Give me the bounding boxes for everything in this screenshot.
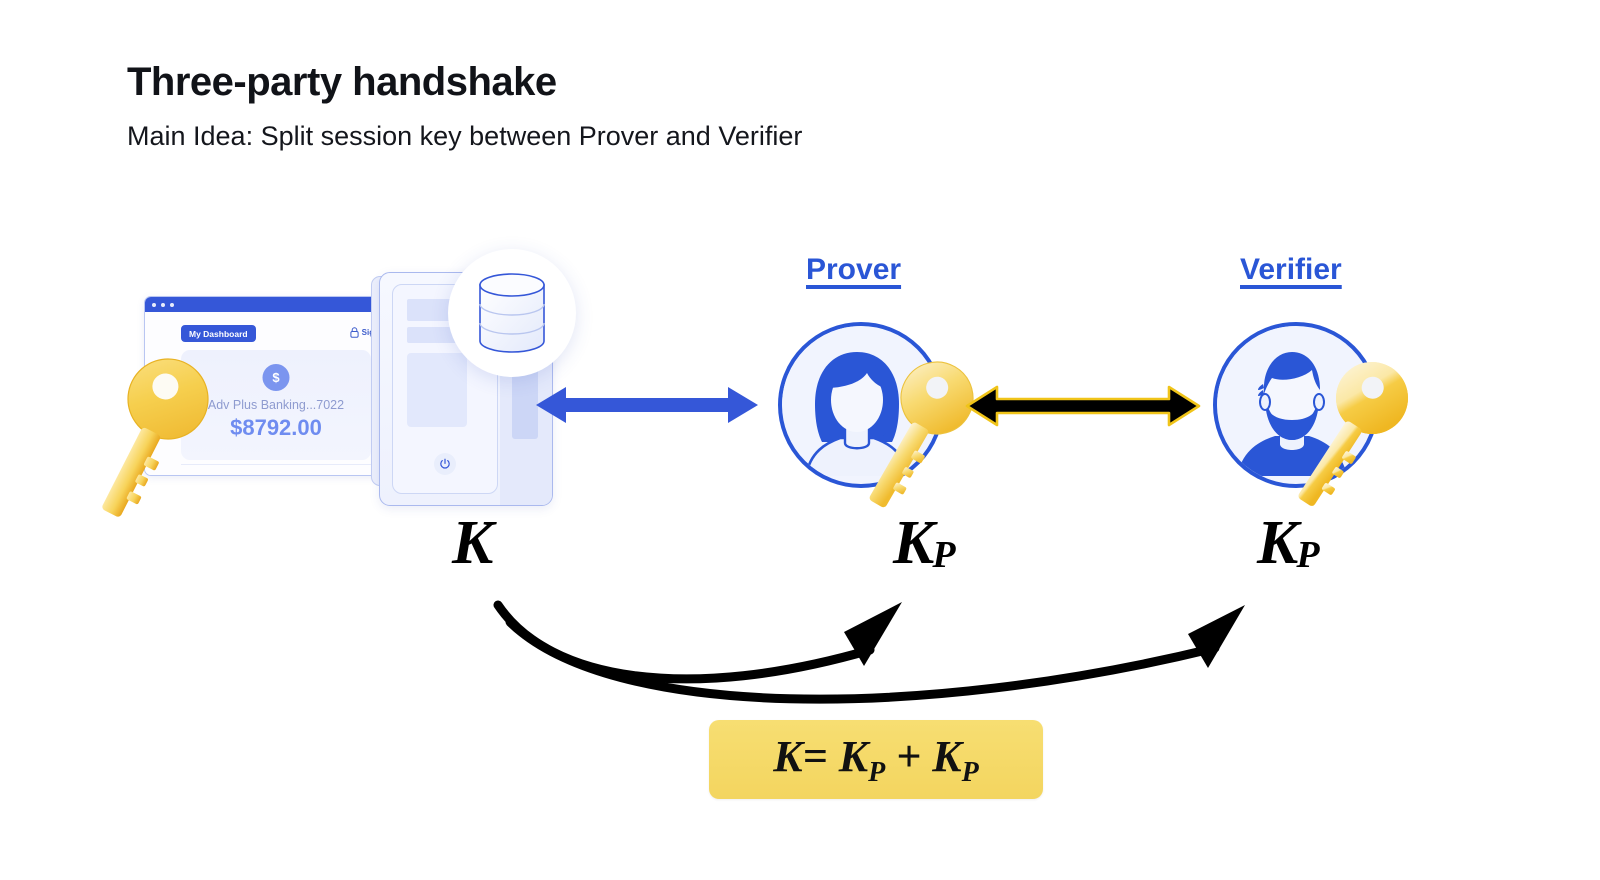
arrow-client-prover xyxy=(536,383,758,427)
verifier-label: Verifier xyxy=(1240,253,1342,287)
equation-term1: K xyxy=(839,732,868,781)
equation-term2: K xyxy=(932,732,961,781)
equation-plus: + xyxy=(896,732,921,781)
diagram-canvas: Three-party handshake Main Idea: Split s… xyxy=(0,0,1600,880)
prover-label: Prover xyxy=(806,253,901,287)
key-icon-verifier xyxy=(1330,358,1475,528)
database-bubble xyxy=(448,249,576,377)
traffic-light-dot xyxy=(170,303,174,307)
key-split-arrows xyxy=(440,570,1260,710)
traffic-light-dot xyxy=(152,303,156,307)
browser-titlebar xyxy=(145,297,409,312)
equation-term1-sub: P xyxy=(868,756,885,787)
equation-text: K= KP + KP xyxy=(773,731,978,789)
lock-icon xyxy=(350,327,359,338)
power-icon xyxy=(434,453,456,475)
my-dashboard-chip[interactable]: My Dashboard xyxy=(181,325,256,342)
key-label-client: K xyxy=(452,508,493,579)
split-to-verifier-head xyxy=(1188,605,1245,668)
page-title: Three-party handshake xyxy=(127,60,557,105)
split-to-prover-path xyxy=(498,605,870,679)
equation-lhs: K xyxy=(773,732,802,781)
key-label-prover: KP xyxy=(893,508,956,579)
equation-eq: = xyxy=(803,732,828,781)
arrow-prover-verifier xyxy=(965,383,1201,429)
page-subtitle: Main Idea: Split session key between Pro… xyxy=(127,121,802,152)
server-vent xyxy=(407,353,467,427)
traffic-light-dot xyxy=(161,303,165,307)
key-icon-client xyxy=(120,355,270,530)
key-label-verifier: KP xyxy=(1257,508,1320,579)
equation-box: K= KP + KP xyxy=(709,720,1043,799)
database-icon xyxy=(476,272,548,354)
equation-term2-sub: P xyxy=(962,756,979,787)
